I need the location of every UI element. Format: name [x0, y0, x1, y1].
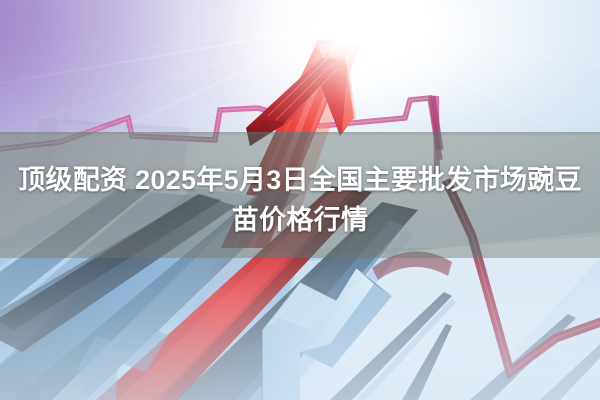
news-thumbnail-image: 顶级配资 2025年5月3日全国主要批发市场豌豆苗价格行情 — [0, 0, 600, 400]
title-band-top-edge — [0, 132, 600, 136]
headline-title: 顶级配资 2025年5月3日全国主要批发市场豌豆苗价格行情 — [0, 160, 600, 240]
